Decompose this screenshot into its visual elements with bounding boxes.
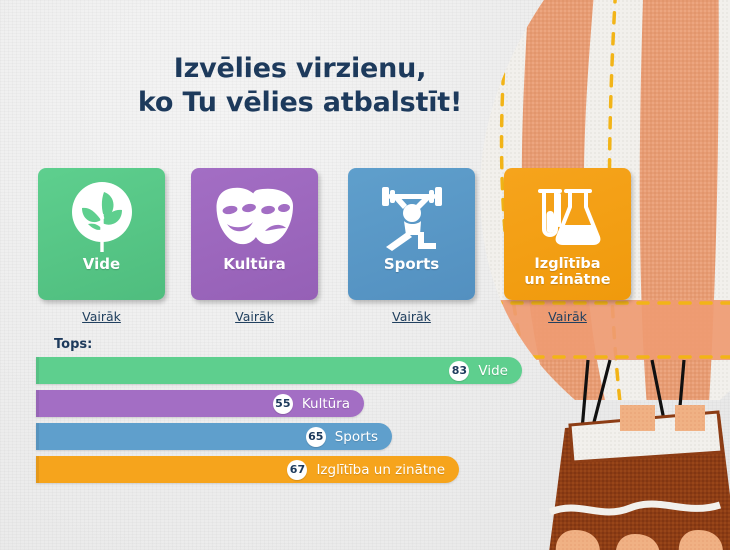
- label-line: Izglītība: [534, 256, 600, 272]
- category-card-label: Sports: [348, 256, 475, 273]
- table-row: 67 Izglītība un zinātne: [36, 456, 596, 483]
- bar-label: Vide: [478, 363, 508, 379]
- category-card-label: Kultūra: [191, 256, 318, 273]
- category-card-vide-wrap: Vide Vairāk: [38, 168, 165, 324]
- category-card-izglitiba-wrap: Izglītība un zinātne Vairāk: [504, 168, 631, 324]
- category-card-vide[interactable]: Vide: [38, 168, 165, 300]
- bar-kultura[interactable]: 55 Kultūra: [36, 390, 364, 417]
- bar-izglitiba[interactable]: 67 Izglītība un zinātne: [36, 456, 459, 483]
- tops-label: Tops:: [54, 337, 92, 352]
- category-card-kultura-wrap: Kultūra Vairāk: [191, 168, 318, 324]
- bar-vide[interactable]: 83 Vide: [36, 357, 522, 384]
- more-link-vide[interactable]: Vairāk: [38, 309, 165, 324]
- label-line: Vide: [83, 255, 120, 273]
- page-title-line-1: Izvēlies virzienu,: [174, 53, 427, 84]
- bar-label: Sports: [335, 429, 378, 445]
- plant-icon: [64, 180, 140, 254]
- status-badge: 83: [449, 361, 469, 381]
- category-card-sports[interactable]: Sports: [348, 168, 475, 300]
- category-card-label: Vide: [38, 256, 165, 273]
- category-card-izglitiba[interactable]: Izglītība un zinātne: [504, 168, 631, 300]
- page-title: Izvēlies virzienu, ko Tu vēlies atbalstī…: [0, 52, 600, 120]
- category-cards: Vide Vairāk: [38, 168, 608, 328]
- status-badge: 67: [287, 460, 307, 480]
- status-badge: 55: [273, 394, 293, 414]
- label-line: un zinātne: [524, 272, 610, 288]
- more-link-kultura[interactable]: Vairāk: [191, 309, 318, 324]
- bar-label: Kultūra: [302, 396, 350, 412]
- page-root: Izvēlies virzienu, ko Tu vēlies atbalstī…: [0, 0, 730, 550]
- tops-bar-chart: 83 Vide 55 Kultūra 65 Sports 67 Izglītīb…: [36, 357, 596, 489]
- more-link-izglitiba[interactable]: Vairāk: [504, 309, 631, 324]
- theatre-masks-icon: [213, 180, 297, 254]
- weightlifter-icon: [374, 180, 450, 254]
- bar-label: Izglītība un zinātne: [316, 462, 445, 478]
- more-link-sports[interactable]: Vairāk: [348, 309, 475, 324]
- status-badge: 65: [306, 427, 326, 447]
- table-row: 55 Kultūra: [36, 390, 596, 417]
- flask-icon: [530, 180, 606, 254]
- page-title-line-2: ko Tu vēlies atbalstīt!: [0, 86, 600, 120]
- category-card-sports-wrap: Sports Vairāk: [348, 168, 475, 324]
- category-card-kultura[interactable]: Kultūra: [191, 168, 318, 300]
- label-line: Kultūra: [223, 255, 286, 273]
- table-row: 83 Vide: [36, 357, 596, 384]
- table-row: 65 Sports: [36, 423, 596, 450]
- label-line: Sports: [384, 255, 439, 273]
- bar-sports[interactable]: 65 Sports: [36, 423, 392, 450]
- category-card-label: Izglītība un zinātne: [504, 256, 631, 288]
